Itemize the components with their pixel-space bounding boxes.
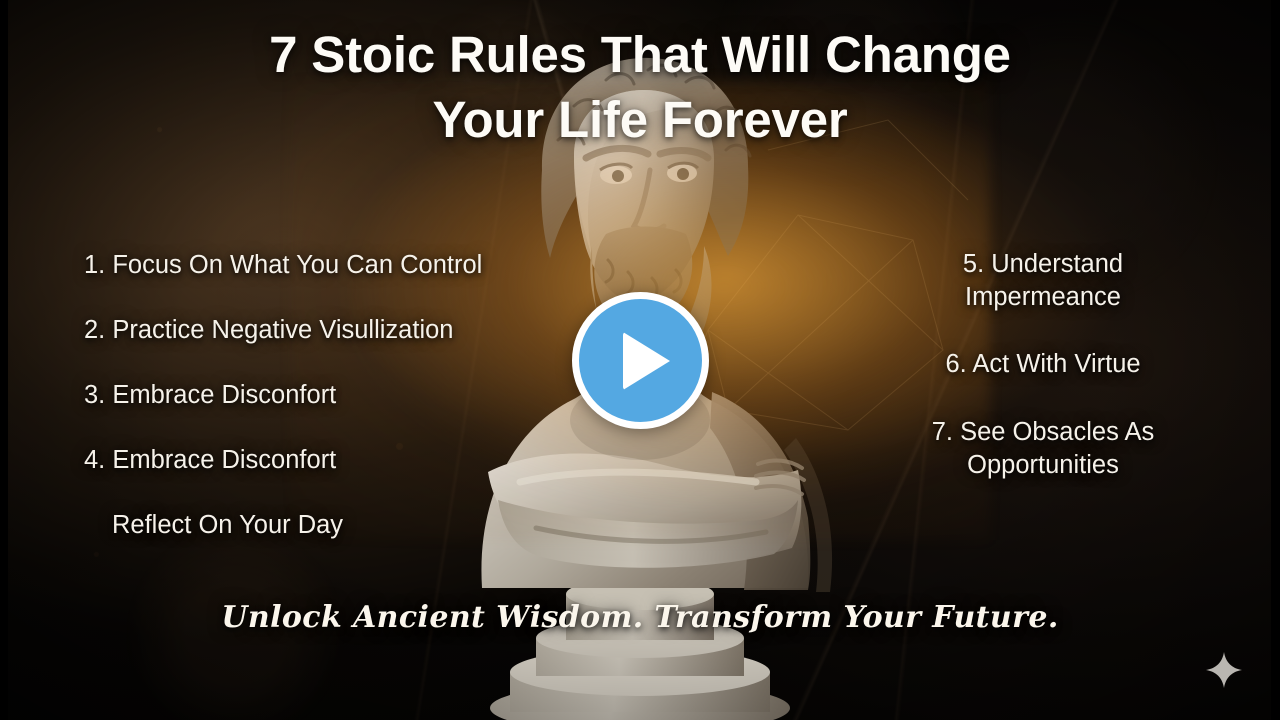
list-item: Reflect On Your Day (84, 510, 524, 542)
rule-text: Focus On What You Can Control (112, 251, 482, 279)
rule-text: Act With Virtue (972, 350, 1140, 378)
list-item: 1. Focus On What You Can Control (84, 250, 524, 282)
title-line-1: 7 Stoic Rules That Will Change (110, 22, 1170, 87)
rule-number: 6. (945, 350, 972, 378)
letterbox-bar-right (1271, 0, 1280, 720)
list-item: 2. Practice Negative Visullization (84, 315, 524, 347)
rule-number: 3. (84, 381, 112, 409)
rule-number: 7. (932, 418, 960, 446)
rule-number: 1. (84, 251, 112, 279)
rule-text: Reflect On Your Day (112, 511, 343, 539)
video-thumbnail[interactable]: 7 Stoic Rules That Will Change Your Life… (0, 0, 1280, 720)
tagline: Unlock Ancient Wisdom. Transform Your Fu… (0, 600, 1280, 635)
list-item: 3. Embrace Disconfort (84, 380, 524, 412)
sparkle-icon (1204, 650, 1244, 690)
play-button[interactable] (572, 292, 709, 429)
rule-text: Practice Negative Visullization (112, 316, 453, 344)
list-item: 6. Act With Virtue (898, 348, 1188, 381)
rule-number: 2. (84, 316, 112, 344)
rules-list-right: 5. Understand Impermeance 6. Act With Vi… (898, 248, 1188, 481)
play-icon (623, 332, 670, 390)
letterbox-bar-left (0, 0, 8, 720)
list-item: 7. See Obsacles As Opportunities (898, 416, 1188, 481)
page-title: 7 Stoic Rules That Will Change Your Life… (0, 22, 1280, 153)
rule-number: 5. (963, 250, 991, 278)
list-item: 5. Understand Impermeance (898, 248, 1188, 313)
list-item: 4. Embrace Disconfort (84, 445, 524, 477)
rule-text: Embrace Disconfort (112, 446, 336, 474)
title-line-2: Your Life Forever (110, 87, 1170, 152)
rules-list-left: 1. Focus On What You Can Control 2. Prac… (84, 250, 524, 541)
rule-text: Embrace Disconfort (112, 381, 336, 409)
rule-number: 4. (84, 446, 112, 474)
rule-text: See Obsacles As Opportunities (960, 418, 1154, 479)
